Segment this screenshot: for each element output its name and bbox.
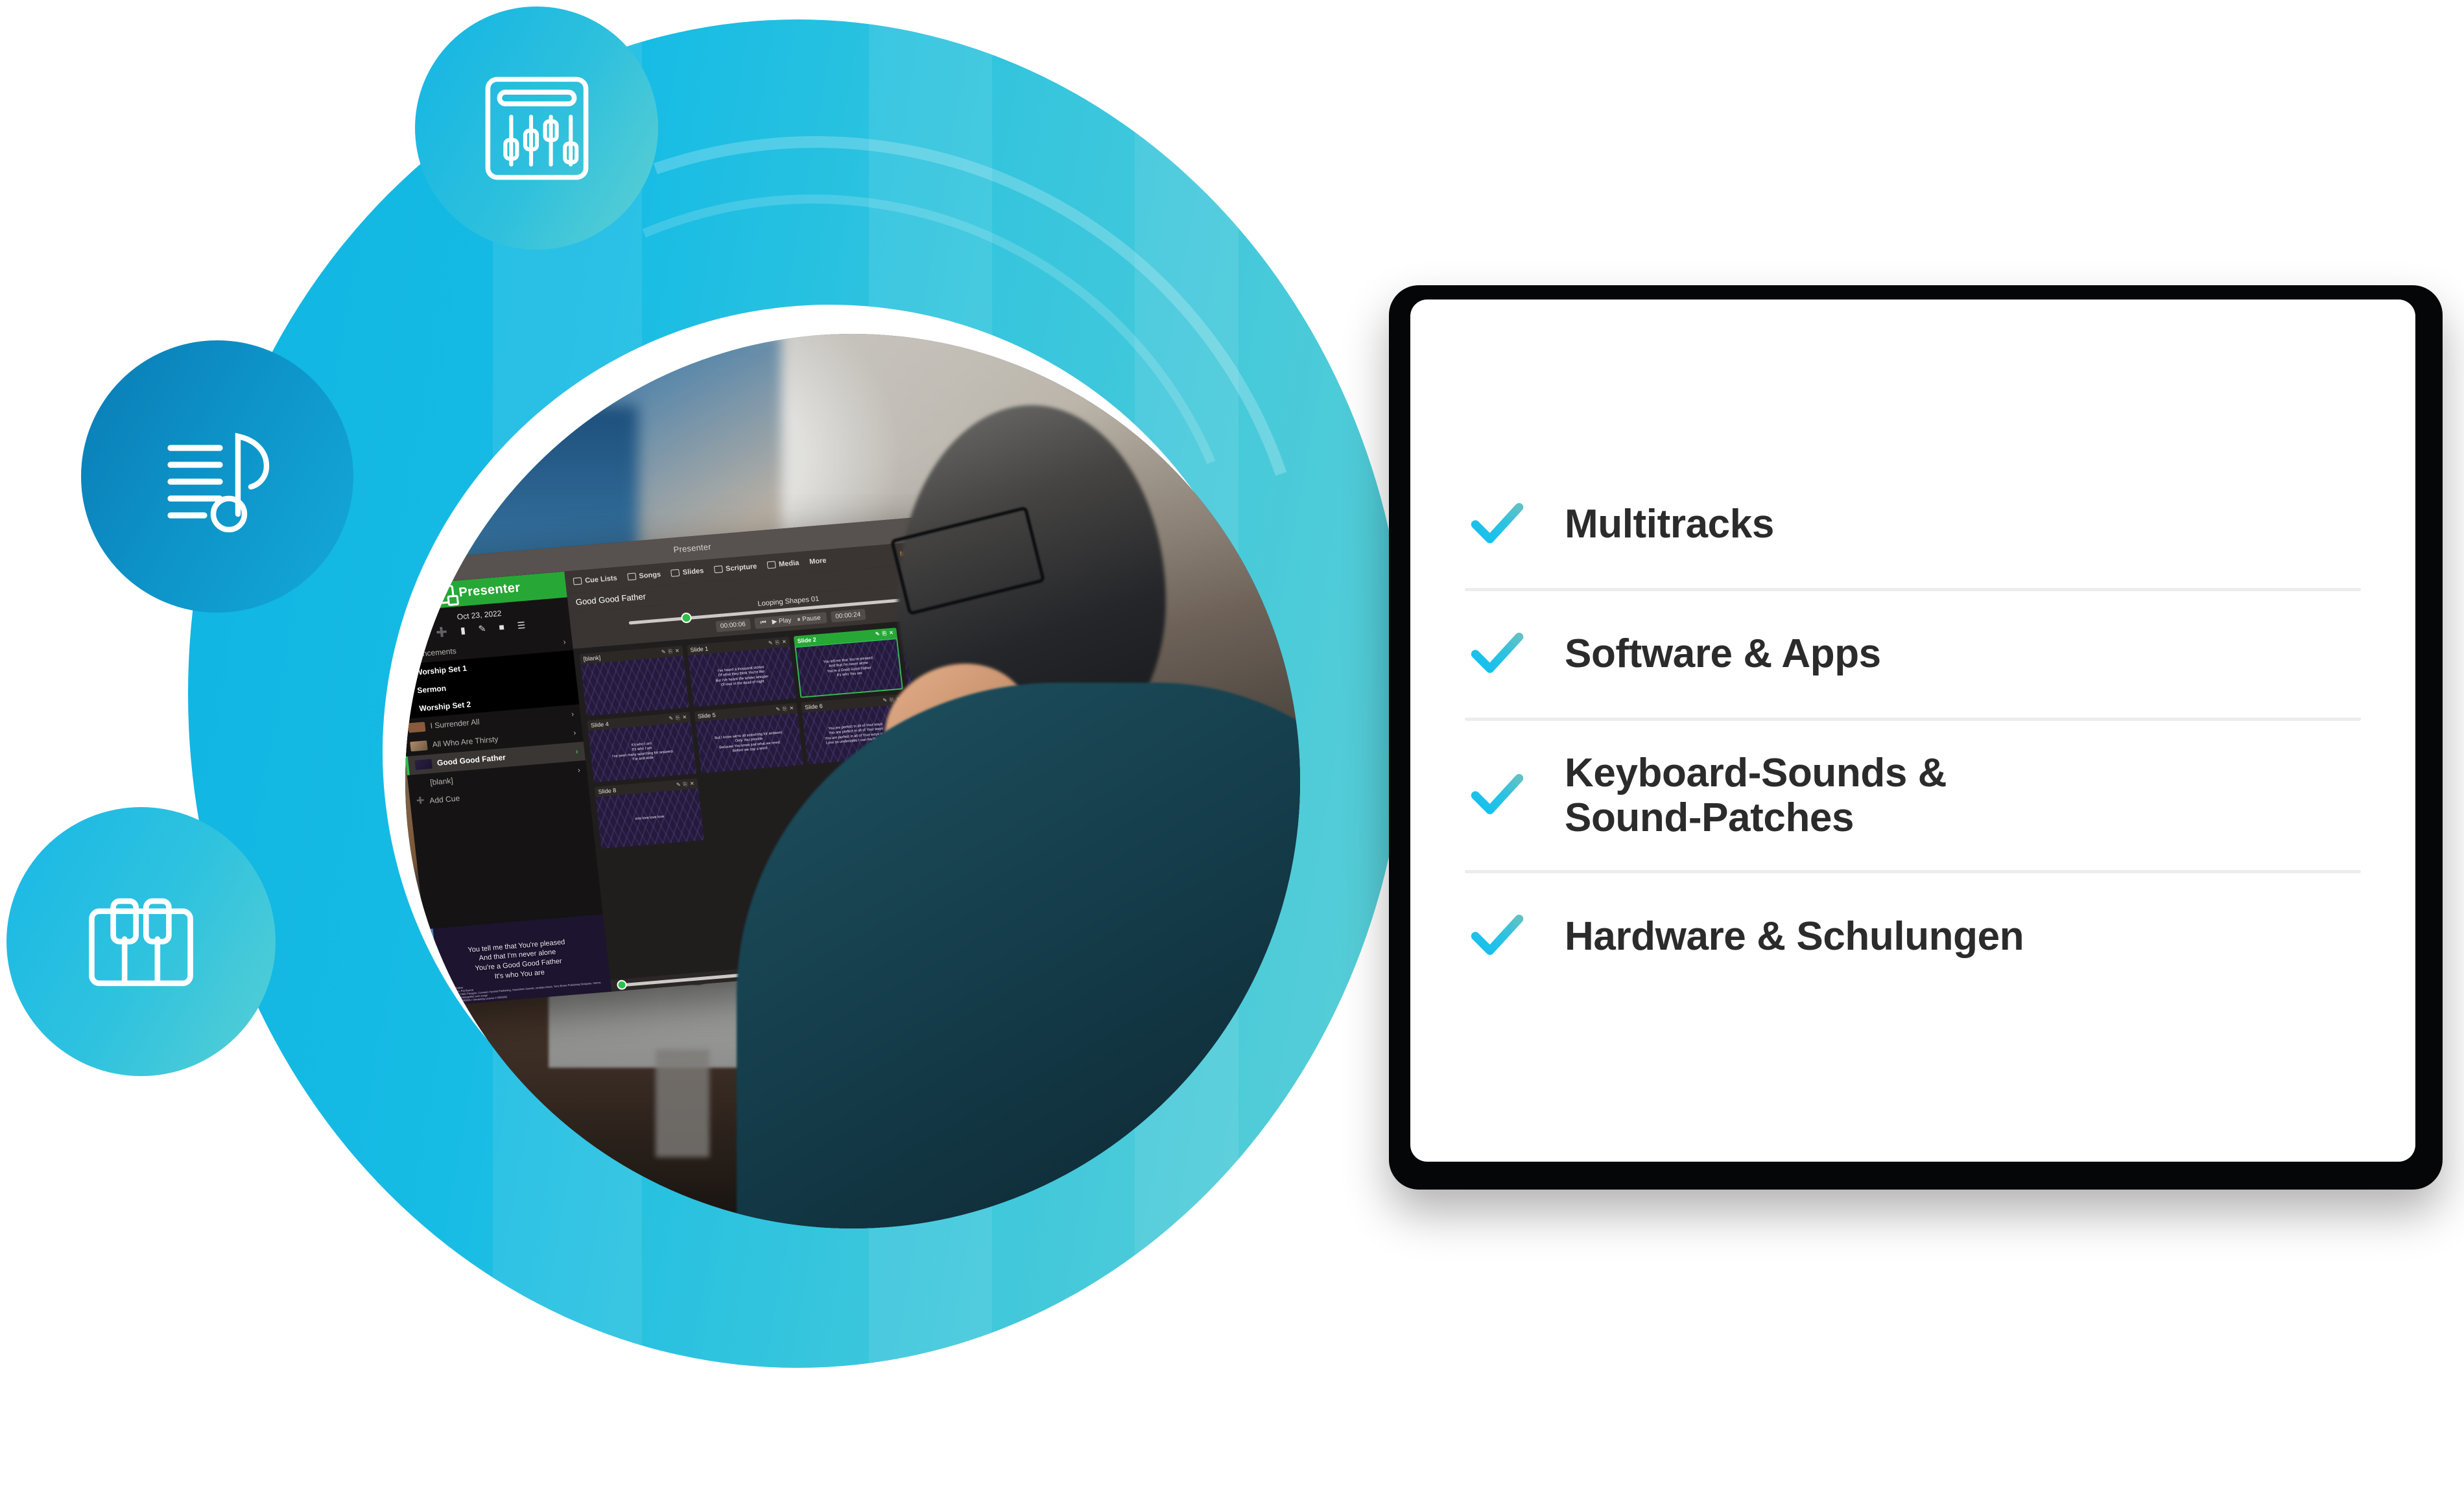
duplicate-icon[interactable]: ⎘	[889, 697, 894, 703]
chevron-down-icon: ▼	[405, 705, 414, 713]
menu-media[interactable]: Media	[766, 559, 799, 569]
skip-icon[interactable]: ⏮	[760, 619, 766, 627]
monitor-icon[interactable]	[965, 545, 974, 552]
edit-icon[interactable]: ✎	[875, 631, 880, 637]
menu-label: Songs	[638, 570, 661, 580]
song-thumbnail	[414, 759, 432, 770]
sidebar-item-label: Add Cue	[429, 793, 460, 805]
check-icon	[1465, 491, 1528, 558]
menu-cue-lists[interactable]: Cue Lists	[573, 574, 617, 586]
check-icon	[1465, 903, 1528, 970]
chevron-up-icon: ▲	[405, 669, 410, 677]
slide-card[interactable]: Slide 7✎⎘✕Peace so unexplainableAs You c…	[908, 685, 1017, 755]
window-title: Presenter	[672, 542, 711, 555]
edit-icon[interactable]: ✎	[661, 649, 666, 655]
menu-label: Slides	[682, 567, 704, 577]
menu-songs[interactable]: Songs	[626, 570, 661, 581]
screen-bezel: Presenter Presenter Oct 23, 2022 ➕ ▮	[405, 510, 1048, 1006]
menu-label: Cue Lists	[584, 574, 617, 585]
badge-piano	[6, 807, 276, 1076]
chevron-up-icon: ▲	[405, 687, 412, 695]
menu-scripture[interactable]: Scripture	[713, 563, 757, 574]
edit-icon[interactable]: ✎	[989, 688, 994, 695]
plus-icon: ➕	[416, 797, 424, 805]
hero-composition: Presenter Presenter Oct 23, 2022 ➕ ▮	[0, 0, 2464, 1491]
output-lyrics: You tell me that You're pleasedAnd that …	[467, 937, 568, 983]
slide-preview: You tell me that You're pleasedAnd that …	[794, 638, 903, 698]
edit-icon[interactable]: ✎	[477, 623, 486, 635]
slide-text: You are perfect in all of Your waysYou a…	[823, 722, 889, 746]
close-icon[interactable]: ✕	[689, 781, 694, 787]
add-slide-button[interactable]: Add Slide	[918, 564, 957, 580]
display-status: Main Display Off	[899, 546, 955, 558]
slider-knob[interactable]	[681, 613, 693, 624]
slide-title: Slide 3	[904, 628, 923, 635]
close-icon[interactable]: ✕	[789, 705, 794, 712]
slide-title: Slide 2	[797, 636, 816, 644]
sidebar-item-label: Good Good Father	[436, 753, 506, 768]
piano-keys-icon	[78, 878, 204, 1005]
cue-title: Good Good Father	[575, 592, 646, 607]
list-icon[interactable]: ☰	[516, 620, 525, 631]
edit-icon[interactable]: ✎	[768, 640, 773, 646]
slide-title: Slide 5	[697, 712, 716, 720]
duplicate-icon[interactable]: ⎘	[683, 781, 688, 788]
badge-sheet-music	[81, 340, 353, 613]
menu-slides[interactable]: Slides	[670, 567, 704, 578]
print-icon[interactable]: ■	[498, 622, 504, 633]
duplicate-icon[interactable]: ⎘	[775, 639, 780, 646]
slide-preview: But I know we're all searching for answe…	[695, 713, 803, 773]
slide-grid: [blank]✎⎘✕Slide 1✎⎘✕I've heard a thousan…	[573, 612, 1047, 980]
slide-preview: It's who I amIt's who I amI've seen many…	[588, 722, 696, 782]
slide-text: Peace so unexplainableAs You call me dee…	[941, 714, 985, 736]
chevron-right-icon: ›	[562, 637, 566, 646]
imac-screen: Presenter Presenter Oct 23, 2022 ➕ ▮	[405, 510, 1048, 1006]
close-icon[interactable]: ✕	[896, 696, 901, 703]
play-button[interactable]: ▶ Play	[772, 616, 792, 625]
slide-preview: Peace so unexplainableAs You call me dee…	[909, 695, 1017, 755]
menu-label: More	[809, 557, 827, 566]
app-window: Presenter Oct 23, 2022 ➕ ▮ ✎ ■ ☰ Announc…	[405, 535, 1048, 1007]
edit-icon[interactable]: ✎	[882, 697, 887, 703]
slide-title: Slide 6	[804, 703, 823, 710]
slide-title: Slide 4	[590, 721, 609, 729]
slide-text: It's who I amIt's who I amI've seen many…	[611, 740, 674, 764]
presenter-logo-icon	[432, 585, 455, 605]
close-icon[interactable]: ✕	[1003, 687, 1008, 694]
sidebar-item-label: I Surrender All	[429, 718, 479, 731]
slide-text: You tell me that You're pleasedAnd that …	[823, 656, 875, 679]
pause-button[interactable]: ⏸ Pause	[796, 615, 820, 624]
feature-label: Keyboard-Sounds &Sound-Patches	[1565, 751, 1947, 841]
duplicate-icon[interactable]: ⎘	[989, 621, 994, 628]
close-icon[interactable]: ✕	[674, 648, 680, 654]
chevron-right-icon: ›	[575, 747, 578, 756]
slide-preview: I've heard a thousand storiesOf what the…	[687, 647, 796, 707]
feature-item[interactable]: Multitracks	[1465, 462, 2361, 588]
duplicate-icon[interactable]: ⎘	[668, 648, 673, 655]
sidebar-item-label: All Who Are Thirsty	[432, 734, 499, 749]
photo-imac-stand	[656, 1050, 709, 1157]
feature-item[interactable]: Software & Apps	[1465, 591, 2361, 718]
slides-icon	[670, 569, 680, 577]
menu-more[interactable]: More	[809, 557, 827, 566]
duplicate-icon[interactable]: ⎘	[996, 688, 1001, 694]
slider-knob[interactable]	[616, 980, 627, 990]
badge-mixer	[415, 6, 658, 250]
media-icon	[766, 561, 776, 569]
slide-title: [blank]	[583, 654, 601, 662]
duplicate-icon[interactable]: ⎘	[782, 705, 787, 712]
sidebar-item-label: Worship Set 2	[418, 699, 471, 713]
elapsed-time: 00:00:06	[715, 618, 751, 632]
scripture-icon	[713, 566, 722, 574]
slide-card[interactable]: Slide 1✎⎘✕I've heard a thousand storiesO…	[686, 637, 796, 707]
chevron-right-icon: ›	[573, 728, 576, 737]
mixer-faders-icon	[479, 70, 595, 187]
check-icon	[1465, 762, 1528, 829]
menu-label: Scripture	[725, 563, 757, 573]
slide-title: Slide 7	[911, 694, 930, 701]
menu-label: Media	[778, 559, 799, 569]
slide-title: Slide 8	[598, 787, 617, 795]
feature-item[interactable]: Keyboard-Sounds &Sound-Patches	[1465, 721, 2361, 871]
list-icon	[573, 578, 582, 585]
slide-text: It's who You areIt's who You areAnd I'm …	[938, 648, 973, 670]
slide-card[interactable]: Slide 2✎⎘✕You tell me that You're please…	[793, 628, 903, 698]
check-icon	[1465, 621, 1528, 688]
close-icon[interactable]: ✕	[781, 639, 787, 645]
slide-preview: You are perfect in all of Your waysYou a…	[802, 704, 910, 764]
slide-card[interactable]: Slide 4✎⎘✕It's who I amIt's who I amI've…	[587, 712, 696, 782]
add-icon[interactable]: ➕	[435, 626, 447, 638]
brand-label: Presenter	[458, 581, 521, 601]
music-note-sheet-icon	[152, 412, 282, 541]
feature-label: Multitracks	[1565, 502, 1774, 546]
edit-icon[interactable]: ✎	[982, 622, 987, 628]
feature-item[interactable]: Hardware & Schulungen	[1465, 873, 2361, 1000]
sidebar-item-label: [blank]	[429, 776, 453, 787]
sidebar-item-label: Worship Set 1	[414, 664, 467, 677]
slide-card[interactable]: [blank]✎⎘✕	[579, 646, 689, 716]
slide-preview: It's who You areIt's who You areAnd I'm …	[901, 629, 1010, 689]
audience-output-preview: Main Audience Output You tell me that Yo…	[424, 914, 611, 1006]
slide-text: I've heard a thousand storiesOf what the…	[714, 665, 769, 689]
song-thumbnail	[410, 740, 428, 751]
app-main: Cue Lists Songs Slides Scripture Media M…	[564, 535, 1048, 992]
slide-card[interactable]: Slide 5✎⎘✕But I know we're all searching…	[694, 703, 803, 773]
photo-circle: Presenter Presenter Oct 23, 2022 ➕ ▮	[405, 334, 1300, 1228]
slide-text: But I know we're all searching for answe…	[714, 731, 783, 756]
edit-cue-button[interactable]: Edit Cue	[960, 561, 997, 576]
slide-card[interactable]: Slide 8✎⎘✕Into love love love	[594, 778, 704, 849]
chevron-right-icon: ›	[576, 765, 580, 774]
edit-icon[interactable]: ✎	[775, 706, 780, 712]
feature-label: Software & Apps	[1565, 631, 1881, 676]
gear-icon[interactable]	[984, 541, 995, 552]
duplicate-icon[interactable]: ⎘	[882, 630, 887, 637]
edit-icon[interactable]: ✎	[668, 715, 673, 722]
slide-card[interactable]: Slide 3✎⎘✕It's who You areIt's who You a…	[900, 618, 1010, 689]
songs-icon	[626, 573, 635, 581]
duplicate-icon[interactable]: ⎘	[675, 714, 680, 721]
sidebar-item-label: Announcements	[405, 646, 456, 660]
close-icon[interactable]: ✕	[888, 629, 894, 636]
feature-label: Hardware & Schulungen	[1565, 914, 2024, 959]
song-thumbnail	[407, 722, 425, 733]
slide-preview	[580, 656, 689, 716]
feature-card: MultitracksSoftware & AppsKeyboard-Sound…	[1410, 299, 2415, 1162]
sidebar-item-label: Sermon	[416, 683, 446, 695]
edit-icon[interactable]: ✎	[676, 782, 681, 788]
folder-icon[interactable]: ▮	[460, 625, 466, 637]
slide-preview: Into love love love	[595, 788, 704, 849]
close-icon[interactable]: ✕	[682, 714, 687, 720]
slide-card[interactable]: Slide 6✎⎘✕You are perfect in all of Your…	[801, 694, 910, 764]
close-icon[interactable]: ✕	[995, 620, 1001, 627]
chevron-right-icon: ›	[571, 709, 575, 718]
slide-text: Into love love love	[635, 815, 664, 822]
remaining-time: 00:00:24	[830, 609, 866, 622]
slide-title: Slide 1	[690, 645, 709, 653]
